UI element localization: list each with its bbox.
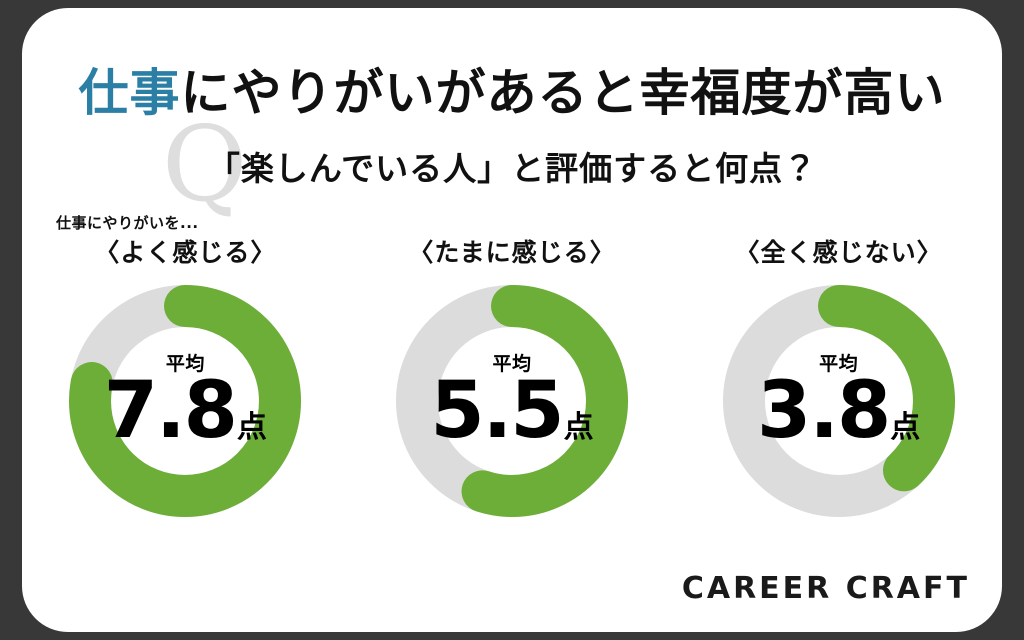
donut-svg-1 xyxy=(396,285,628,517)
corner-bottom-left xyxy=(22,586,68,632)
brand-logo: CAREER CRAFT xyxy=(682,571,970,606)
page-title-rest: にやりがいがあると幸福度が高い xyxy=(181,64,946,122)
content-panel: 仕事にやりがいがあると幸福度が高い Q 「楽しんでいる人」と評価すると何点？ 仕… xyxy=(22,8,1002,632)
infographic-canvas: 仕事にやりがいがあると幸福度が高い Q 「楽しんでいる人」と評価すると何点？ 仕… xyxy=(0,0,1024,640)
donut-chart-2: 平均 3.8 点 xyxy=(723,285,955,517)
corner-top-left xyxy=(22,8,68,54)
donut-svg-0 xyxy=(69,285,301,517)
donut-heading-1: 〈たまに感じる〉 xyxy=(408,233,615,269)
page-subtitle: 「楽しんでいる人」と評価すると何点？ xyxy=(22,142,1002,190)
donut-svg-2 xyxy=(723,285,955,517)
donut-heading-0: 〈よく感じる〉 xyxy=(94,233,276,269)
donut-group: 〈よく感じる〉 平均 7.8 点 〈たまに感じ xyxy=(22,233,1002,517)
donut-column-0: 〈よく感じる〉 平均 7.8 点 xyxy=(35,233,335,517)
corner-top-right xyxy=(956,8,1002,54)
donut-column-1: 〈たまに感じる〉 平均 5.5 点 xyxy=(362,233,662,517)
lead-in-label: 仕事にやりがいを... xyxy=(56,212,199,233)
donut-chart-0: 平均 7.8 点 xyxy=(69,285,301,517)
donut-column-2: 〈全く感じない〉 平均 3.8 点 xyxy=(689,233,989,517)
donut-chart-1: 平均 5.5 点 xyxy=(396,285,628,517)
donut-heading-2: 〈全く感じない〉 xyxy=(735,233,943,269)
